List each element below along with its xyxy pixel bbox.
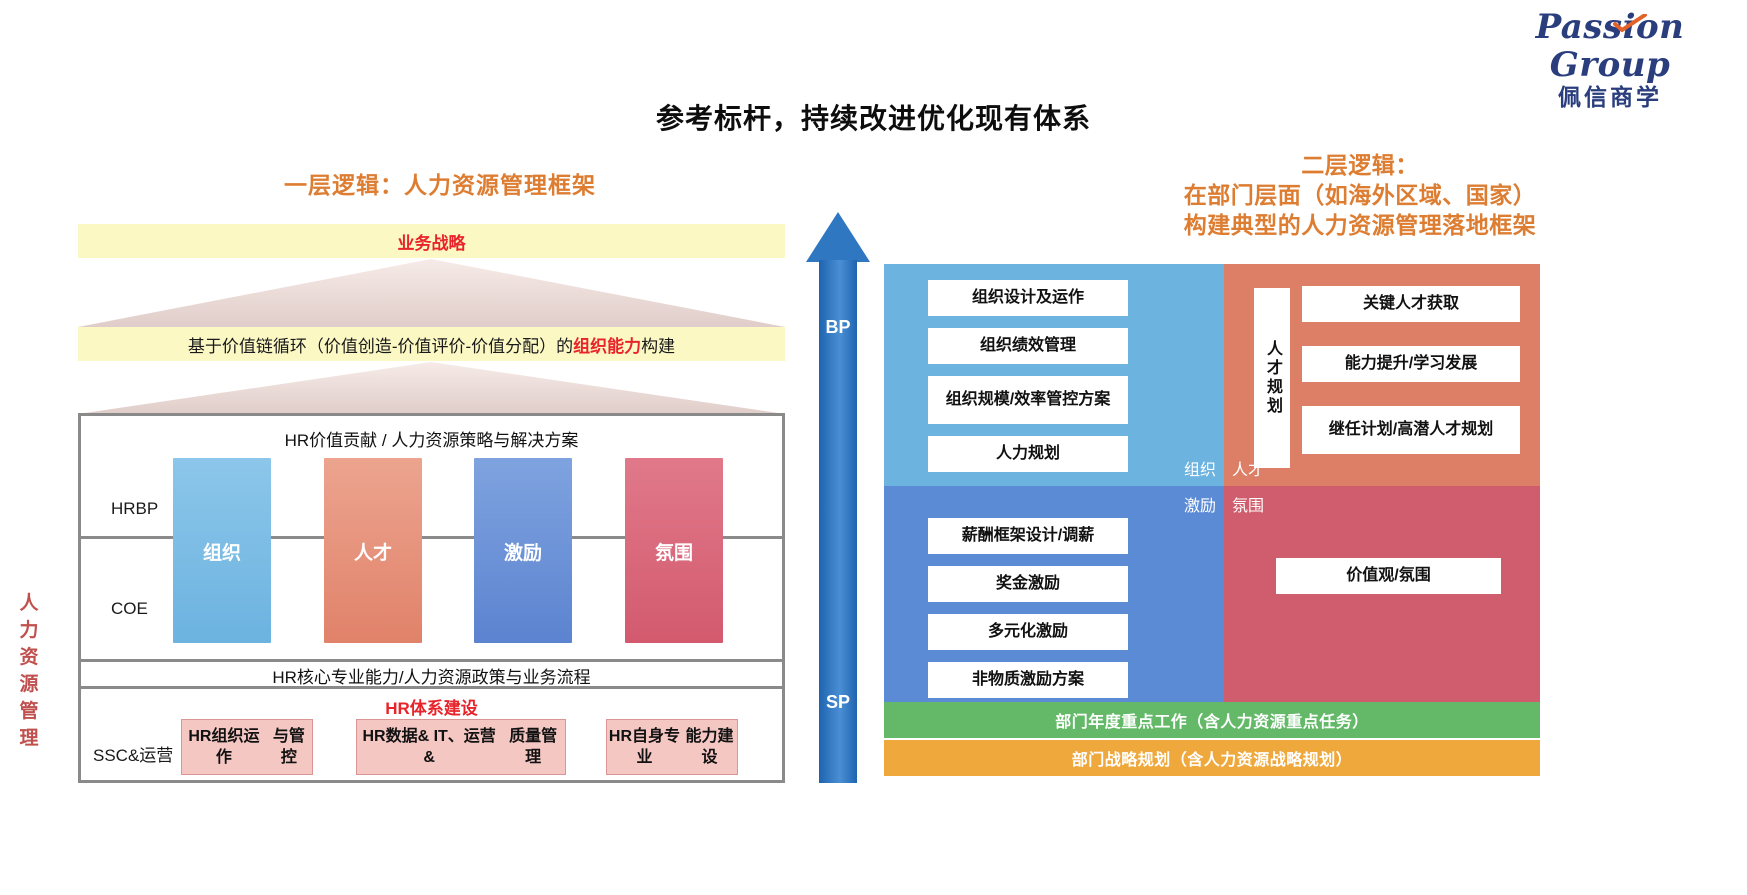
ssc-box-line: 与管控 [266, 726, 312, 768]
matrix-item-line: 价值观/氛围 [1346, 566, 1430, 586]
matrix-item-line: 组织设计及运作 [972, 288, 1084, 308]
quadrant-incentive: 激励 薪酬框架设计/调薪 奖金激励 多元化激励 非物质激励方案 [884, 486, 1224, 702]
matrix-item-inc-1: 薪酬框架设计/调薪 [928, 518, 1128, 554]
hr-framework-box: HR价值贡献 / 人力资源策略与解决方案 HR核心专业能力/人力资源政策与业务流… [78, 413, 785, 783]
matrix-item-line: 继任计划/ [1329, 420, 1397, 440]
capability-bar: 基于价值链循环（价值创造-价值评价-价值分配）的组织能力构建 [78, 327, 785, 361]
bp-sp-arrow: BP SP [806, 212, 870, 783]
vertical-label-char: 管 [14, 698, 44, 725]
triangle-connector-bottom [78, 362, 785, 417]
pillar-atmosphere-label: 氛围 [625, 538, 723, 565]
matrix-item-line: 组织规模/ [946, 390, 1014, 410]
left-vertical-label: 人力资源管理 [14, 590, 44, 752]
capability-bar-prefix: 基于价值链循环（价值创造-价值评价-价值分配）的 [188, 332, 573, 357]
ssc-box-line: HR自身专业 [607, 726, 682, 768]
bottom-bar-annual-work: 部门年度重点工作（含人力资源重点任务） [884, 702, 1540, 738]
right-header-line-2: 在部门层面（如海外区域、国家） [980, 180, 1740, 210]
right-header-line-1: 二层逻辑： [980, 150, 1740, 180]
ssc-box-1: HR组织运作与管控 [181, 719, 313, 775]
matrix-item-line: 非物质激励方案 [972, 670, 1084, 690]
department-framework-matrix: 组织 组织设计及运作 组织绩效管理 组织规模/效率管控方案 人力规划 人才 人才… [884, 264, 1540, 685]
brand-logo: Passion Group 佩信商学 [1495, 8, 1725, 88]
pillar-talent: 人才 [324, 458, 422, 643]
quadrant-organization-label: 组织 [1184, 456, 1216, 480]
matrix-item-line: 薪酬框架设计/调薪 [962, 526, 1094, 546]
page-title: 参考标杆，持续改进优化现有体系 [0, 97, 1747, 137]
hr-core-caption: HR核心专业能力/人力资源政策与业务流程 [81, 663, 782, 688]
ssc-box-2: HR数据& IT、运营&质量管理 [356, 719, 566, 775]
quadrant-atmosphere: 氛围 价值观/氛围 [1224, 486, 1540, 702]
arrow-head-icon [806, 212, 870, 262]
logo-wordmark: Passion Group [1495, 8, 1725, 84]
matrix-item-inc-4: 非物质激励方案 [928, 662, 1128, 698]
matrix-item-org-3: 组织规模/效率管控方案 [928, 376, 1128, 424]
matrix-item-line: 能力提升/学习发展 [1345, 354, 1477, 374]
left-section-header: 一层逻辑：人力资源管理框架 [60, 166, 820, 200]
ssc-box-line: 质量管理 [501, 726, 565, 768]
check-tick-icon [1613, 14, 1647, 32]
row-label-coe: COE [111, 599, 148, 619]
hr-system-title: HR体系建设 [81, 694, 782, 719]
right-header-line-3: 构建典型的人力资源管理落地框架 [980, 210, 1740, 240]
row-label-ssc: SSC&运营 [93, 741, 173, 766]
matrix-item-line: 多元化激励 [988, 622, 1068, 642]
quadrant-incentive-label: 激励 [1184, 492, 1216, 516]
hr-value-caption: HR价值贡献 / 人力资源策略与解决方案 [81, 426, 782, 451]
triangle-connector-top [78, 259, 785, 329]
pillar-organization-label: 组织 [173, 538, 271, 565]
matrix-item-talent-3: 继任计划/高潜人才规划 [1302, 406, 1520, 454]
matrix-item-atm-1: 价值观/氛围 [1276, 558, 1501, 594]
matrix-item-line: 高潜人才规划 [1397, 420, 1493, 440]
ssc-box-line: 能力建设 [682, 726, 737, 768]
matrix-item-inc-3: 多元化激励 [928, 614, 1128, 650]
frame-divider-2 [81, 659, 782, 662]
matrix-item-line: 奖金激励 [996, 574, 1060, 594]
ssc-box-line: HR数据& IT、运营& [357, 726, 501, 768]
matrix-item-line: 效率管控方案 [1014, 390, 1110, 410]
pillar-incentive: 激励 [474, 458, 572, 643]
quadrant-talent: 人才 人才规划 关键人才获取 能力提升/学习发展 继任计划/高潜人才规划 [1224, 264, 1540, 486]
matrix-item-talent-2: 能力提升/学习发展 [1302, 346, 1520, 382]
pillar-talent-label: 人才 [324, 538, 422, 565]
ssc-box-line: HR组织运作 [182, 726, 266, 768]
matrix-item-line: 人力规划 [996, 444, 1060, 464]
matrix-item-talent-1: 关键人才获取 [1302, 286, 1520, 322]
capability-bar-suffix: 构建 [641, 332, 675, 357]
matrix-item-org-4: 人力规划 [928, 436, 1128, 472]
vertical-label-char: 源 [14, 671, 44, 698]
vertical-label-char: 人 [14, 590, 44, 617]
capability-bar-highlight: 组织能力 [573, 332, 641, 357]
matrix-item-org-2: 组织绩效管理 [928, 328, 1128, 364]
vertical-label-char: 力 [14, 617, 44, 644]
row-label-hrbp: HRBP [111, 499, 158, 519]
business-strategy-bar: 业务战略 [78, 224, 785, 258]
right-section-header: 二层逻辑： 在部门层面（如海外区域、国家） 构建典型的人力资源管理落地框架 [980, 150, 1740, 240]
matrix-item-talent-planning: 人才规划 [1254, 288, 1290, 468]
vertical-label-char: 理 [14, 725, 44, 752]
vertical-label-char: 资 [14, 644, 44, 671]
ssc-box-3: HR自身专业能力建设 [606, 719, 738, 775]
quadrant-atmosphere-label: 氛围 [1232, 492, 1264, 516]
pillar-atmosphere: 氛围 [625, 458, 723, 643]
matrix-item-inc-2: 奖金激励 [928, 566, 1128, 602]
matrix-item-org-1: 组织设计及运作 [928, 280, 1128, 316]
arrow-label-sp: SP [806, 692, 870, 713]
matrix-item-line: 组织绩效管理 [980, 336, 1076, 356]
arrow-label-bp: BP [806, 317, 870, 338]
pillar-organization: 组织 [173, 458, 271, 643]
bottom-bar-strategic-plan: 部门战略规划（含人力资源战略规划） [884, 740, 1540, 776]
pillar-incentive-label: 激励 [474, 538, 572, 565]
quadrant-organization: 组织 组织设计及运作 组织绩效管理 组织规模/效率管控方案 人力规划 [884, 264, 1224, 486]
matrix-item-line: 关键人才获取 [1363, 294, 1459, 314]
